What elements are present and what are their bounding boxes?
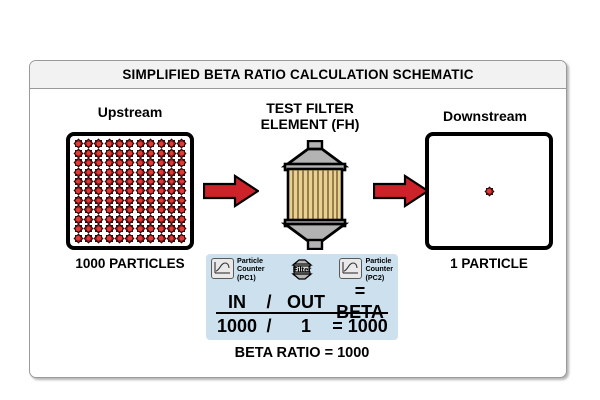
particle-icon <box>95 197 102 204</box>
particle-cell <box>166 205 176 214</box>
particle-cell <box>156 224 166 233</box>
particle-icon <box>85 197 92 204</box>
particle-icon <box>85 187 92 194</box>
particle-cell <box>73 158 83 167</box>
formula-out-value: 1 <box>280 316 332 337</box>
formula-denominator-row: 1000 / 1 = 1000 <box>216 315 388 337</box>
particle-cell <box>114 158 124 167</box>
particle-icon <box>126 150 133 157</box>
particle-icon <box>95 206 102 213</box>
particle-icon <box>106 197 113 204</box>
particle-icon <box>126 169 133 176</box>
particle-icon <box>137 197 144 204</box>
particle-icon <box>178 159 185 166</box>
particle-cell <box>135 158 145 167</box>
particle-cell <box>135 167 145 176</box>
particle-icon <box>85 159 92 166</box>
particle-icon <box>486 188 493 195</box>
particle-cell <box>177 205 187 214</box>
particle-cell <box>135 205 145 214</box>
particle-icon <box>85 206 92 213</box>
particle-cell <box>135 139 145 148</box>
particle-icon <box>116 216 123 223</box>
particle-icon <box>106 225 113 232</box>
particle-cell <box>125 186 135 195</box>
particle-icon <box>75 169 82 176</box>
particle-cell <box>177 148 187 157</box>
particle-icon <box>178 235 185 242</box>
particle-icon <box>147 206 154 213</box>
particle-icon <box>116 159 123 166</box>
particle-cell <box>73 139 83 148</box>
filter-heading: TEST FILTER ELEMENT (FH) <box>245 100 375 132</box>
particle-icon <box>75 150 82 157</box>
particle-cell <box>177 177 187 186</box>
particle-icon <box>137 206 144 213</box>
particle-cell <box>177 215 187 224</box>
particle-icon <box>137 225 144 232</box>
particle-cell <box>146 234 156 243</box>
particle-cell <box>146 224 156 233</box>
particle-cell <box>114 215 124 224</box>
particle-cell <box>125 158 135 167</box>
particle-icon <box>85 178 92 185</box>
particle-icon <box>147 187 154 194</box>
particle-icon <box>95 216 102 223</box>
particle-icon <box>75 235 82 242</box>
downstream-particle-box <box>425 132 553 250</box>
particle-cell <box>146 196 156 205</box>
particle-icon <box>178 197 185 204</box>
filter-heading-line1: TEST FILTER <box>245 100 375 116</box>
particle-icon <box>126 235 133 242</box>
particle-icon <box>178 178 185 185</box>
particle-icon <box>158 169 165 176</box>
particle-counter-pc2-label: Particle Counter (PC2) <box>365 257 393 282</box>
particle-cell <box>104 158 114 167</box>
particle-icon <box>147 235 154 242</box>
page-title: SIMPLIFIED BETA RATIO CALCULATION SCHEMA… <box>122 67 473 82</box>
particle-icon <box>178 150 185 157</box>
particle-cell <box>73 205 83 214</box>
formula-in-label: IN <box>216 292 258 313</box>
particle-cell <box>94 205 104 214</box>
particle-icon <box>158 225 165 232</box>
particle-icon <box>106 140 113 147</box>
particle-icon <box>168 187 175 194</box>
particle-icon <box>168 178 175 185</box>
particle-icon <box>106 169 113 176</box>
pc1-line3: (PC1) <box>237 273 256 282</box>
particle-icon <box>85 235 92 242</box>
particle-icon <box>85 150 92 157</box>
particle-icon <box>116 206 123 213</box>
beta-calculation-panel: Particle Counter (PC1) Filter <box>206 254 398 340</box>
particle-icon <box>75 140 82 147</box>
particle-icon <box>158 150 165 157</box>
particle-icon <box>116 178 123 185</box>
particle-icon <box>158 216 165 223</box>
particle-icon <box>106 235 113 242</box>
particle-icon <box>137 216 144 223</box>
particle-cell <box>146 205 156 214</box>
particle-icon <box>147 178 154 185</box>
particle-icon <box>75 197 82 204</box>
downstream-caption: 1 PARTICLE <box>404 256 574 271</box>
particle-cell <box>146 148 156 157</box>
particle-icon <box>168 225 175 232</box>
downstream-single-particle <box>429 136 549 246</box>
particle-icon <box>158 187 165 194</box>
particle-cell <box>73 234 83 243</box>
filter-heading-line2: ELEMENT (FH) <box>245 116 375 132</box>
particle-counter-icon <box>339 258 362 279</box>
particle-icon <box>116 169 123 176</box>
particle-cell <box>83 205 93 214</box>
particle-cell <box>166 186 176 195</box>
particle-cell <box>125 196 135 205</box>
particle-icon <box>75 225 82 232</box>
particle-cell <box>94 177 104 186</box>
particle-counter-pc2: Particle Counter (PC2) <box>339 257 393 282</box>
particle-cell <box>94 224 104 233</box>
particle-icon <box>75 187 82 194</box>
upstream-particle-grid <box>70 136 190 246</box>
particle-icon <box>126 178 133 185</box>
particle-cell <box>166 158 176 167</box>
particle-icon <box>126 187 133 194</box>
particle-icon <box>75 178 82 185</box>
particle-icon <box>126 206 133 213</box>
particle-icon <box>158 178 165 185</box>
particle-icon <box>85 216 92 223</box>
particle-cell <box>166 167 176 176</box>
title-bar: SIMPLIFIED BETA RATIO CALCULATION SCHEMA… <box>30 61 566 89</box>
particle-icon <box>178 225 185 232</box>
particle-icon <box>116 197 123 204</box>
particle-cell <box>166 148 176 157</box>
particle-cell <box>83 148 93 157</box>
particle-cell <box>73 224 83 233</box>
particle-icon <box>95 235 102 242</box>
particle-icon <box>178 169 185 176</box>
particle-cell <box>166 224 176 233</box>
particle-icon <box>126 216 133 223</box>
particle-cell <box>94 196 104 205</box>
particle-icon <box>147 150 154 157</box>
upstream-caption: 1000 PARTICLES <box>45 256 215 271</box>
particle-icon <box>106 159 113 166</box>
particle-cell <box>146 139 156 148</box>
particle-cell <box>177 196 187 205</box>
formula-slash-bottom: / <box>258 316 280 337</box>
particle-cell <box>166 139 176 148</box>
formula-beta-value: = 1000 <box>332 316 388 337</box>
particle-cell <box>156 139 166 148</box>
particle-icon <box>106 187 113 194</box>
particle-cell <box>114 224 124 233</box>
particle-icon <box>126 197 133 204</box>
particle-icon <box>137 140 144 147</box>
formula-numerator-row: IN / OUT = BETA <box>216 292 388 314</box>
particle-icon <box>106 150 113 157</box>
upstream-particle-box <box>66 132 194 250</box>
filter-mini-label: Filter <box>293 265 312 274</box>
particle-cell <box>94 215 104 224</box>
particle-cell <box>125 148 135 157</box>
particle-icon <box>168 159 175 166</box>
particle-cell <box>94 186 104 195</box>
particle-cell <box>125 205 135 214</box>
particle-cell <box>125 234 135 243</box>
particle-icon <box>147 197 154 204</box>
particle-cell <box>125 215 135 224</box>
particle-cell <box>94 139 104 148</box>
particle-cell <box>104 186 114 195</box>
particle-icon <box>116 235 123 242</box>
particle-icon <box>85 169 92 176</box>
particle-cell <box>146 186 156 195</box>
particle-cell <box>146 215 156 224</box>
particle-icon <box>168 197 175 204</box>
particle-icon <box>75 216 82 223</box>
particle-cell <box>156 234 166 243</box>
particle-icon <box>137 178 144 185</box>
particle-cell <box>177 158 187 167</box>
beta-ratio-schematic: SIMPLIFIED BETA RATIO CALCULATION SCHEMA… <box>0 0 600 400</box>
flow-arrow-inlet-icon <box>203 174 259 208</box>
particle-counter-pc1-label: Particle Counter (PC1) <box>237 257 265 282</box>
particle-icon <box>126 140 133 147</box>
particle-cell <box>125 167 135 176</box>
particle-cell <box>156 158 166 167</box>
particle-icon <box>178 140 185 147</box>
particle-icon <box>75 206 82 213</box>
particle-icon <box>75 159 82 166</box>
particle-icon <box>85 140 92 147</box>
particle-icon <box>137 187 144 194</box>
particle-cell <box>177 224 187 233</box>
particle-icon <box>95 187 102 194</box>
particle-cell <box>177 234 187 243</box>
particle-cell <box>114 234 124 243</box>
particle-icon <box>168 150 175 157</box>
particle-icon <box>178 187 185 194</box>
particle-cell <box>104 234 114 243</box>
particle-icon <box>147 216 154 223</box>
filter-mini-item: Filter <box>289 257 315 274</box>
particle-cell <box>104 205 114 214</box>
particle-icon <box>95 140 102 147</box>
particle-cell <box>83 234 93 243</box>
particle-icon <box>168 206 175 213</box>
formula-slash-top: / <box>258 292 280 313</box>
particle-icon <box>95 150 102 157</box>
particle-icon <box>116 150 123 157</box>
particle-counter-icon <box>211 258 234 279</box>
particle-cell <box>94 158 104 167</box>
particle-cell <box>177 186 187 195</box>
particle-cell <box>83 224 93 233</box>
particle-cell <box>135 186 145 195</box>
particle-icon <box>137 150 144 157</box>
particle-icon <box>168 235 175 242</box>
particle-cell <box>83 186 93 195</box>
particle-cell <box>94 148 104 157</box>
particle-cell <box>83 139 93 148</box>
particle-icon <box>85 225 92 232</box>
particle-icon <box>116 225 123 232</box>
particle-icon <box>95 159 102 166</box>
particle-cell <box>177 139 187 148</box>
particle-icon <box>106 206 113 213</box>
particle-icon <box>147 225 154 232</box>
particle-icon <box>116 140 123 147</box>
particle-cell <box>135 234 145 243</box>
particle-cell <box>114 139 124 148</box>
beta-ratio-result: BETA RATIO = 1000 <box>180 345 424 361</box>
particle-icon <box>126 159 133 166</box>
particle-cell <box>104 224 114 233</box>
particle-icon <box>178 206 185 213</box>
particle-icon <box>147 169 154 176</box>
particle-cell <box>94 167 104 176</box>
particle-icon <box>95 178 102 185</box>
particle-counter-pc1: Particle Counter (PC1) <box>211 257 265 282</box>
particle-icon <box>158 140 165 147</box>
particle-icon <box>158 206 165 213</box>
particle-cell <box>114 205 124 214</box>
particle-cell <box>114 186 124 195</box>
particle-icon <box>178 216 185 223</box>
particle-icon <box>168 169 175 176</box>
particle-icon <box>106 178 113 185</box>
test-filter-element-icon <box>281 140 349 250</box>
particle-cell <box>94 234 104 243</box>
particle-icon <box>116 187 123 194</box>
formula-out-label: OUT <box>280 292 332 313</box>
particle-icon <box>168 140 175 147</box>
particle-icon <box>106 216 113 223</box>
formula-in-value: 1000 <box>216 316 258 337</box>
particle-icon <box>147 159 154 166</box>
flow-arrow-outlet-icon <box>373 174 429 208</box>
particle-cell <box>104 139 114 148</box>
upstream-heading: Upstream <box>45 104 215 120</box>
particle-cell <box>125 177 135 186</box>
particle-cell <box>83 158 93 167</box>
particle-icon <box>95 225 102 232</box>
particle-icon <box>158 235 165 242</box>
particle-icon <box>95 169 102 176</box>
downstream-heading: Downstream <box>400 108 570 124</box>
particle-icon <box>168 216 175 223</box>
particle-icon <box>137 159 144 166</box>
particle-cell <box>125 139 135 148</box>
particle-icon <box>147 140 154 147</box>
particle-icon <box>158 197 165 204</box>
particle-cell <box>125 224 135 233</box>
particle-icon <box>126 225 133 232</box>
particle-icon <box>137 169 144 176</box>
particle-cell <box>177 167 187 176</box>
particle-cell <box>166 234 176 243</box>
particle-cell <box>146 167 156 176</box>
particle-cell <box>135 224 145 233</box>
particle-icon <box>137 235 144 242</box>
particle-icon <box>158 159 165 166</box>
particle-cell <box>146 158 156 167</box>
